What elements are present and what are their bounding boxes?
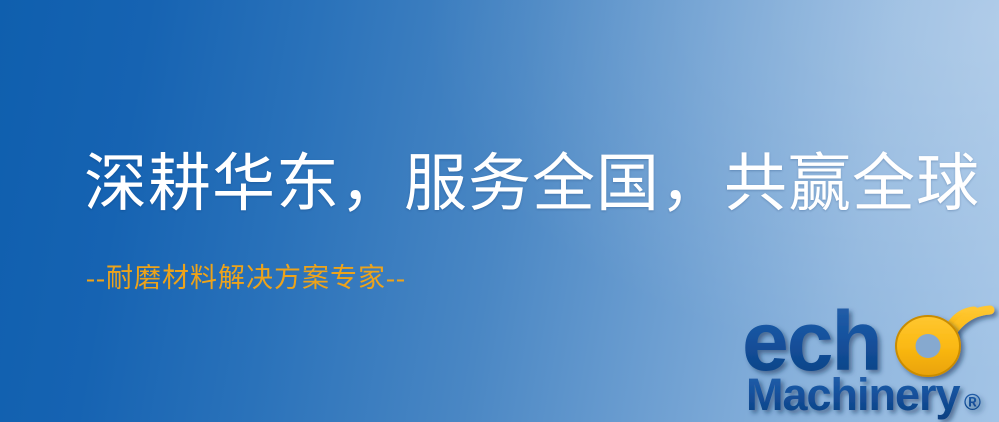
svg-text:Machinery: Machinery	[746, 369, 961, 420]
echo-machinery-logo[interactable]: ech Machinery ®	[742, 292, 994, 420]
logo-tagline: Machinery ®	[746, 369, 981, 420]
hero-banner: 深耕华东，服务全国，共赢全球 --耐磨材料解决方案专家--	[0, 0, 999, 422]
logo-wordmark-o	[896, 316, 960, 376]
banner-headline: 深耕华东，服务全国，共赢全球	[84, 148, 980, 220]
svg-text:®: ®	[964, 389, 981, 415]
banner-subheadline: --耐磨材料解决方案专家--	[86, 262, 406, 294]
